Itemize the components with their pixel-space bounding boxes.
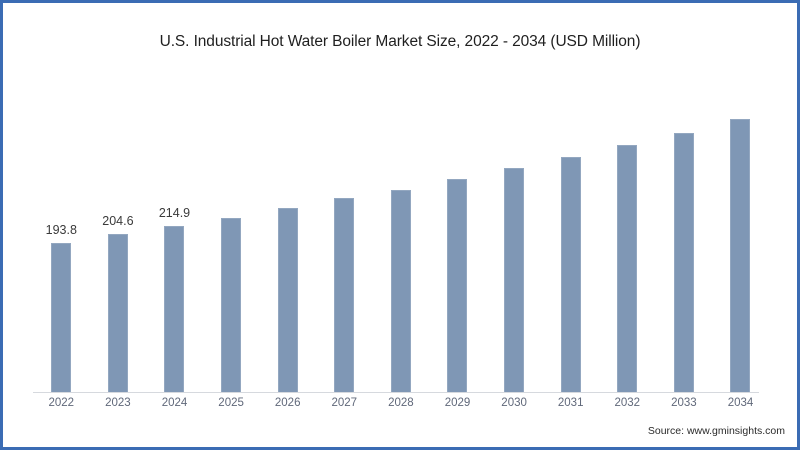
bar-group xyxy=(656,83,713,393)
x-axis-tick-2024: 2024 xyxy=(146,397,203,409)
x-axis-tick-2026: 2026 xyxy=(259,397,316,409)
x-axis-tick-2033: 2033 xyxy=(656,397,713,409)
x-axis-tick-2023: 2023 xyxy=(90,397,147,409)
x-axis-tick-2030: 2030 xyxy=(486,397,543,409)
bar-value-label: 193.8 xyxy=(46,223,77,237)
bar-group xyxy=(429,83,486,393)
bar-value-label: 204.6 xyxy=(102,214,133,228)
x-axis-tick-2034: 2034 xyxy=(712,397,769,409)
x-axis-line xyxy=(33,392,759,393)
bar[interactable] xyxy=(278,208,298,393)
bar[interactable] xyxy=(51,243,71,393)
bar[interactable] xyxy=(108,234,128,393)
bar-group xyxy=(259,83,316,393)
bar[interactable] xyxy=(561,157,581,393)
x-axis-tick-2022: 2022 xyxy=(33,397,90,409)
x-axis-tick-2027: 2027 xyxy=(316,397,373,409)
bar-group xyxy=(486,83,543,393)
bar-group xyxy=(542,83,599,393)
bar-group: 214.9 xyxy=(146,83,203,393)
x-axis-tick-2029: 2029 xyxy=(429,397,486,409)
x-axis-tick-2028: 2028 xyxy=(373,397,430,409)
chart-container: U.S. Industrial Hot Water Boiler Market … xyxy=(0,0,800,450)
bar[interactable] xyxy=(164,226,184,393)
bar[interactable] xyxy=(674,133,694,393)
x-axis-tick-2031: 2031 xyxy=(542,397,599,409)
bar-group xyxy=(373,83,430,393)
bar-group xyxy=(599,83,656,393)
source-attribution: Source: www.gminsights.com xyxy=(648,425,785,437)
x-axis-tick-2025: 2025 xyxy=(203,397,260,409)
bar[interactable] xyxy=(730,119,750,393)
bar[interactable] xyxy=(447,179,467,393)
plot-area: 193.8204.6214.9 xyxy=(33,83,763,393)
bar[interactable] xyxy=(334,198,354,393)
bar[interactable] xyxy=(617,145,637,393)
bar-group xyxy=(203,83,260,393)
x-axis-tick-2032: 2032 xyxy=(599,397,656,409)
bar-group xyxy=(712,83,769,393)
bar-group xyxy=(316,83,373,393)
bar[interactable] xyxy=(391,190,411,394)
bar[interactable] xyxy=(221,218,241,393)
chart-title: U.S. Industrial Hot Water Boiler Market … xyxy=(3,33,797,51)
bar-value-label: 214.9 xyxy=(159,206,190,220)
bar-group: 193.8 xyxy=(33,83,90,393)
bar-group: 204.6 xyxy=(90,83,147,393)
bar[interactable] xyxy=(504,168,524,393)
